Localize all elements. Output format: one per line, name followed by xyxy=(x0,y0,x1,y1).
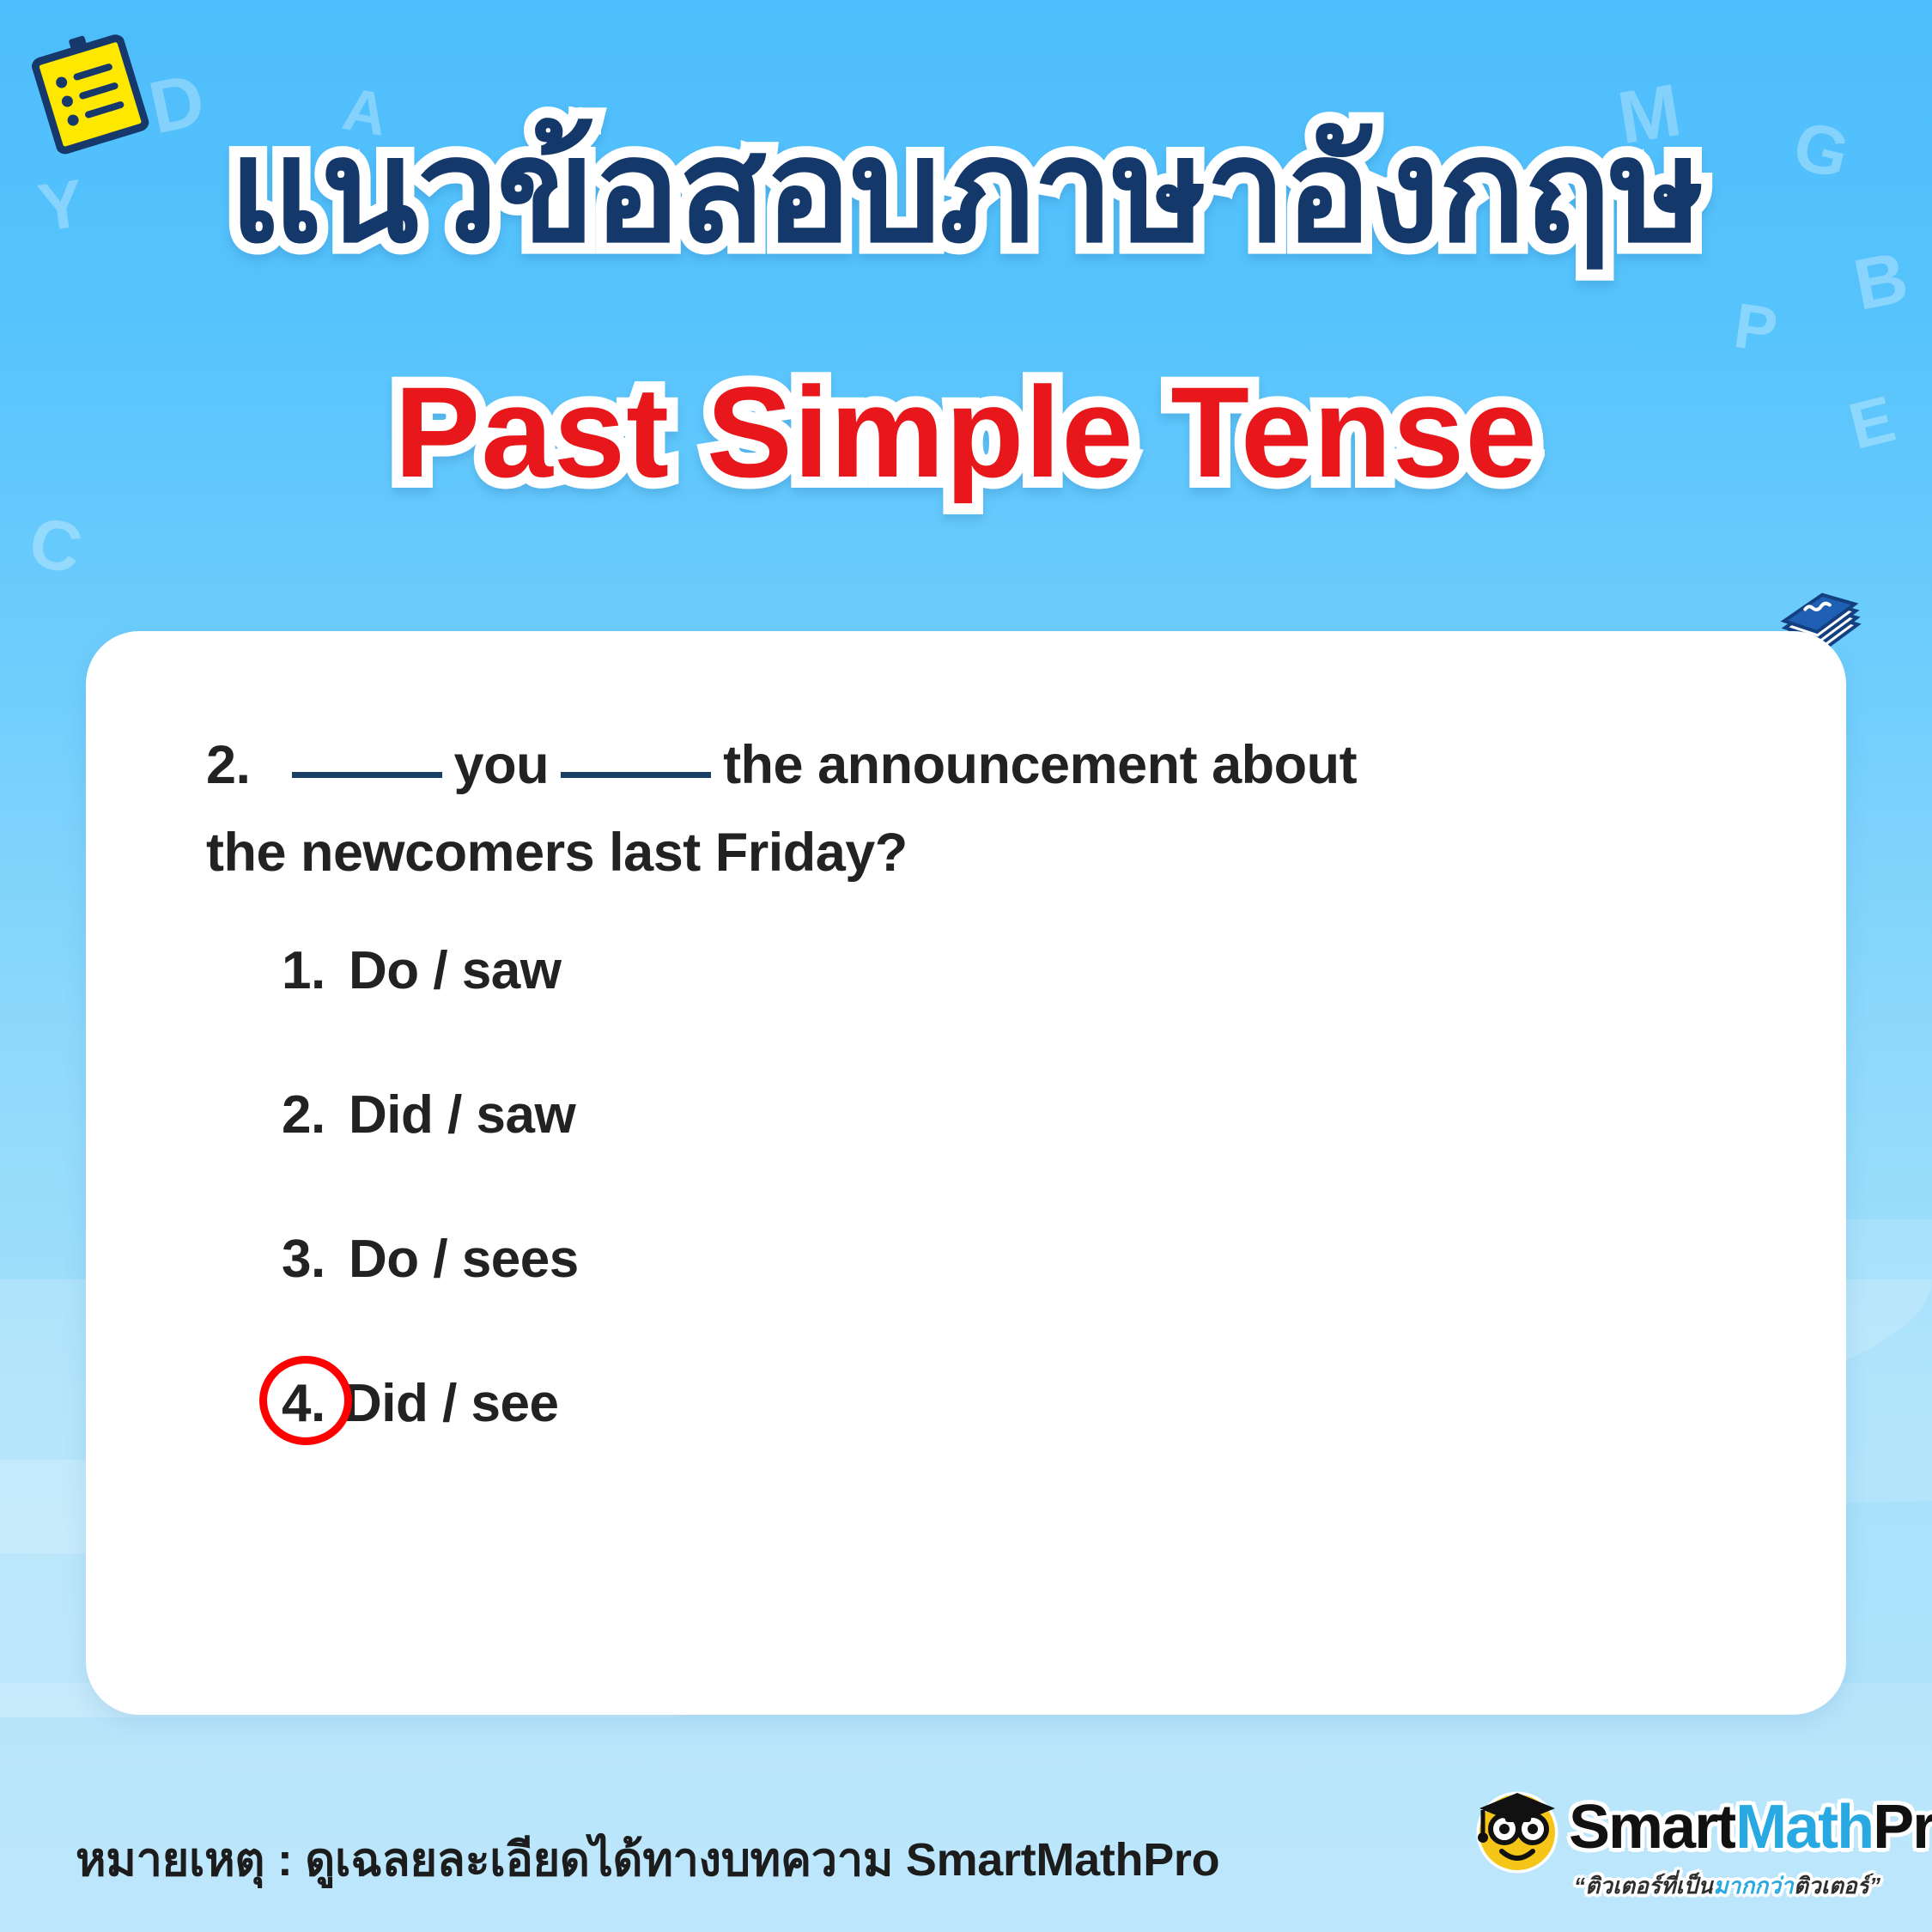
question-word-you: you xyxy=(454,735,550,795)
page-subtitle: Past Simple Tense xyxy=(394,352,1537,513)
answer-choice-label: Did / saw xyxy=(349,1085,575,1145)
answer-blank-1[interactable] xyxy=(292,772,442,778)
answer-blank-2[interactable] xyxy=(561,772,711,778)
tagline-close-quote: ” xyxy=(1869,1873,1880,1899)
logo-wordmark: SmartMathPro xyxy=(1569,1796,1932,1858)
question-line-2: the newcomers last Friday? xyxy=(206,809,1786,896)
logo-text-pro: Pro xyxy=(1873,1793,1932,1862)
answer-choice-label: Do / sees xyxy=(349,1230,579,1289)
answer-choices-list: 1.Do / saw2.Did / saw3.Do / sees4.Did / … xyxy=(282,940,579,1434)
page-subtitle-container: Past Simple Tense xyxy=(0,352,1932,513)
background-letter: C xyxy=(23,507,88,586)
page-title-container: แนวข้อสอบภาษาอังกฤษ xyxy=(0,103,1932,279)
tagline-part-2: มากกว่า xyxy=(1713,1873,1794,1899)
answer-choice-number: 2. xyxy=(282,1084,349,1145)
footer-note: หมายเหตุ : ดูเฉลยละเอียดได้ทางบทความ Sma… xyxy=(76,1822,1219,1896)
question-tail: the announcement about xyxy=(723,735,1357,795)
tagline-open-quote: “ xyxy=(1574,1873,1585,1899)
tagline-part-3: ติวเตอร์ xyxy=(1794,1873,1869,1899)
tagline-part-1: ติวเตอร์ที่เป็น xyxy=(1585,1873,1713,1899)
answer-choice-number: 3. xyxy=(282,1229,349,1290)
answer-choice-number: 1. xyxy=(282,940,349,1001)
answer-choice[interactable]: 3.Do / sees xyxy=(282,1229,579,1290)
question-text: 2.youthe announcement about the newcomer… xyxy=(206,721,1786,896)
question-number: 2. xyxy=(206,721,251,809)
answer-choice[interactable]: 1.Do / saw xyxy=(282,940,579,1001)
logo-row: SmartMathPro xyxy=(1464,1779,1932,1875)
logo-tagline: “ติวเตอร์ที่เป็นมากกว่าติวเตอร์” xyxy=(1574,1868,1880,1904)
logo-text-smart: Smart xyxy=(1569,1793,1735,1862)
smartmathpro-logo: SmartMathPro “ติวเตอร์ที่เป็นมากกว่าติวเ… xyxy=(1464,1779,1893,1908)
page-title-thai: แนวข้อสอบภาษาอังกฤษ xyxy=(229,103,1704,279)
logo-text-math: Math xyxy=(1735,1793,1873,1862)
question-card: 2.youthe announcement about the newcomer… xyxy=(86,631,1846,1715)
answer-choice-label: Did / see xyxy=(343,1374,559,1433)
answer-choice-label: Do / saw xyxy=(349,941,562,1000)
graduate-smiley-face-icon xyxy=(1464,1779,1565,1875)
infographic-page: DAYCMGBPE แนวข้อสอบภาษาอังกฤษ xyxy=(0,0,1932,1932)
answer-choice[interactable]: 2.Did / saw xyxy=(282,1084,579,1145)
answer-choice[interactable]: 4.Did / see xyxy=(282,1373,579,1434)
answer-choice-number: 4. xyxy=(282,1373,343,1434)
